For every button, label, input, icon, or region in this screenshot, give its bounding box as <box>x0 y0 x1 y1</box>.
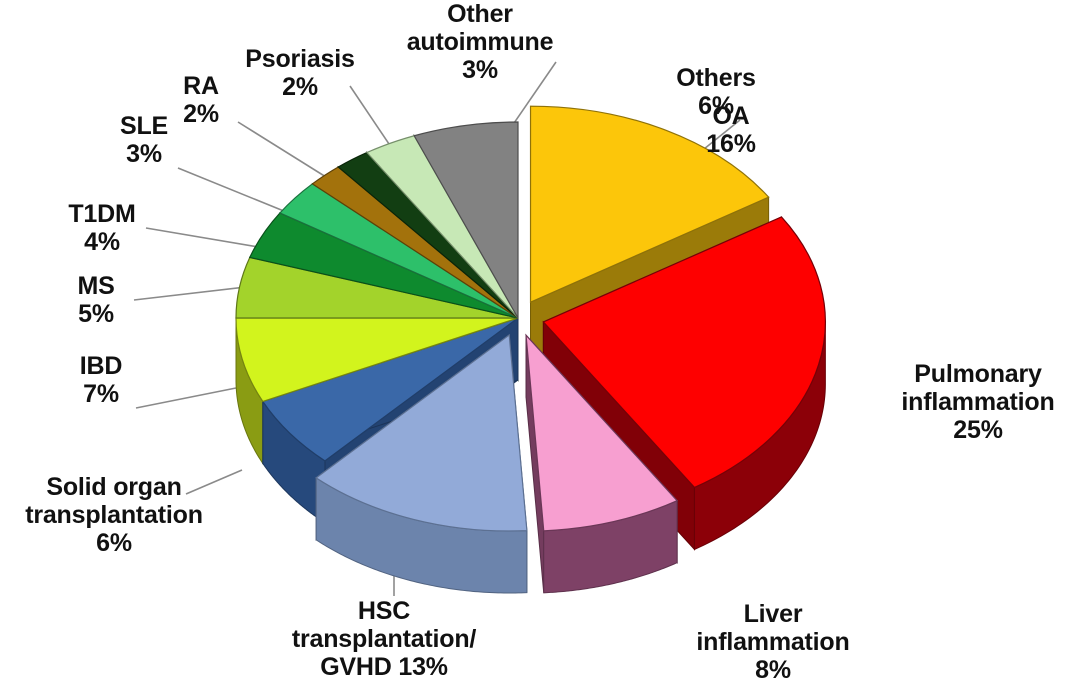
slice-label-oa: OA 16% <box>650 102 812 158</box>
slice-label-ibd: IBD 7% <box>48 352 154 408</box>
slice-label-ms: MS 5% <box>44 272 148 328</box>
slice-label-solid-organ-transplantation: Solid organ transplantation 6% <box>8 473 220 557</box>
slice-label-t1dm: T1DM 4% <box>38 200 166 256</box>
slice-label-pulmonary-inflammation: Pulmonary inflammation 25% <box>880 360 1076 444</box>
pie-chart-figure: OA 16%Pulmonary inflammation 25%Liver in… <box>0 0 1080 697</box>
slice-label-hsc-transplantation-gvhd: HSC transplantation/ GVHD 13% <box>268 597 500 681</box>
slice-label-liver-inflammation: Liver inflammation 8% <box>658 600 888 684</box>
slice-label-other-autoimmune: Other autoimmune 3% <box>370 0 590 84</box>
slice-label-sle: SLE 3% <box>92 112 196 168</box>
